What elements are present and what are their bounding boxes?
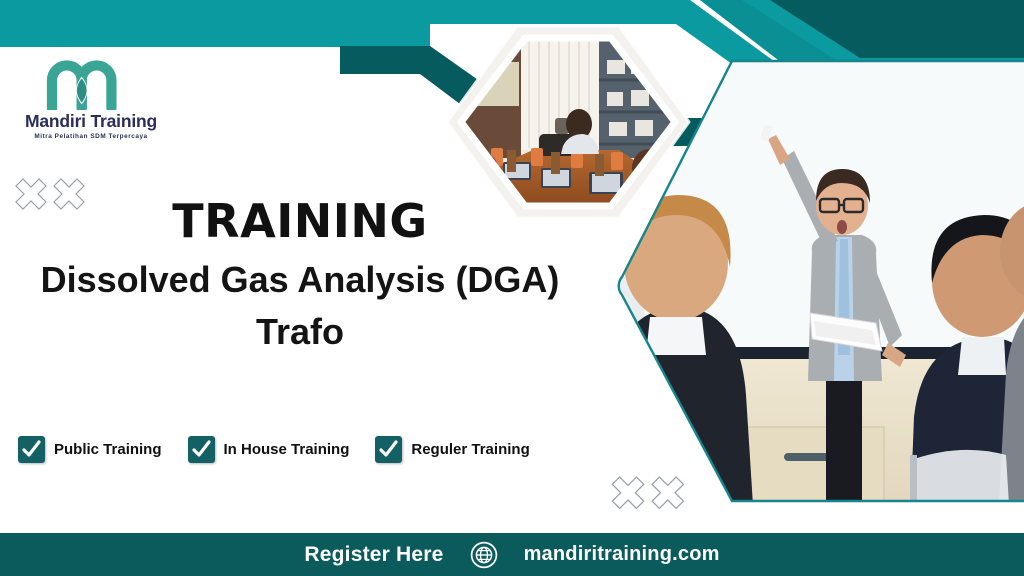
training-type-label: In House Training bbox=[224, 441, 350, 458]
website-url[interactable]: mandiritraining.com bbox=[524, 543, 720, 566]
training-type-public[interactable]: Public Training bbox=[18, 436, 162, 463]
register-here-label[interactable]: Register Here bbox=[304, 543, 443, 567]
brand-logo: Mandiri Training Mitra Pelatihan SDM Ter… bbox=[16, 58, 166, 140]
course-title-line2: Trafo bbox=[0, 306, 600, 358]
training-type-list: Public Training In House Training Regule… bbox=[18, 436, 530, 463]
globe-icon bbox=[470, 541, 498, 569]
training-type-reguler[interactable]: Reguler Training bbox=[375, 436, 529, 463]
checkmark-icon[interactable] bbox=[18, 436, 45, 463]
course-title: Dissolved Gas Analysis (DGA) Trafo bbox=[0, 254, 600, 358]
mandiri-m-monogram-icon bbox=[16, 58, 166, 110]
logo-name-text: Mandiri Training bbox=[16, 112, 166, 130]
poster-canvas: Mandiri Training Mitra Pelatihan SDM Ter… bbox=[0, 0, 1024, 576]
training-type-in-house[interactable]: In House Training bbox=[188, 436, 350, 463]
footer-bar: Register Here mandiritraining.com bbox=[0, 533, 1024, 576]
training-kicker: TRAINING bbox=[0, 198, 600, 244]
training-type-label: Public Training bbox=[54, 441, 162, 458]
secondary-hexagon-photo bbox=[443, 22, 693, 222]
checkmark-icon[interactable] bbox=[188, 436, 215, 463]
headline-block: TRAINING Dissolved Gas Analysis (DGA) Tr… bbox=[0, 198, 600, 358]
logo-tagline-text: Mitra Pelatihan SDM Terpercaya bbox=[16, 133, 166, 140]
checkmark-icon[interactable] bbox=[375, 436, 402, 463]
course-title-line1: Dissolved Gas Analysis (DGA) bbox=[0, 254, 600, 306]
training-type-label: Reguler Training bbox=[411, 441, 529, 458]
